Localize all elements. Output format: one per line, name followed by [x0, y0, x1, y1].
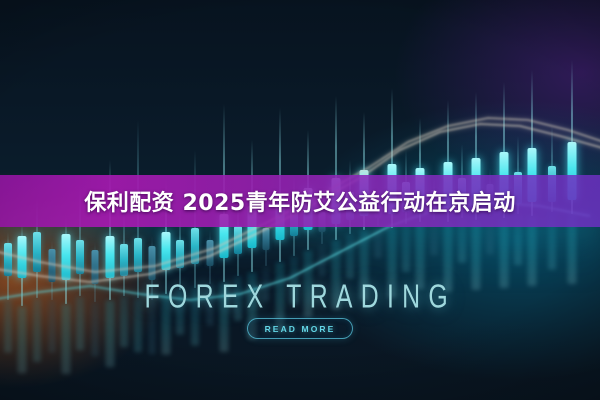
- read-more-button[interactable]: READ MORE: [247, 318, 354, 339]
- brand-title: FOREX TRADING: [144, 278, 455, 316]
- forex-banner: 保利配资 2025青年防艾公益行动在京启动 FOREX TRADING READ…: [0, 0, 600, 400]
- cta-wrapper: READ MORE: [0, 318, 600, 339]
- brand-block: FOREX TRADING: [0, 278, 600, 309]
- page-title: 保利配资 2025青年防艾公益行动在京启动: [84, 185, 515, 217]
- headline-band: 保利配资 2025青年防艾公益行动在京启动: [0, 175, 600, 227]
